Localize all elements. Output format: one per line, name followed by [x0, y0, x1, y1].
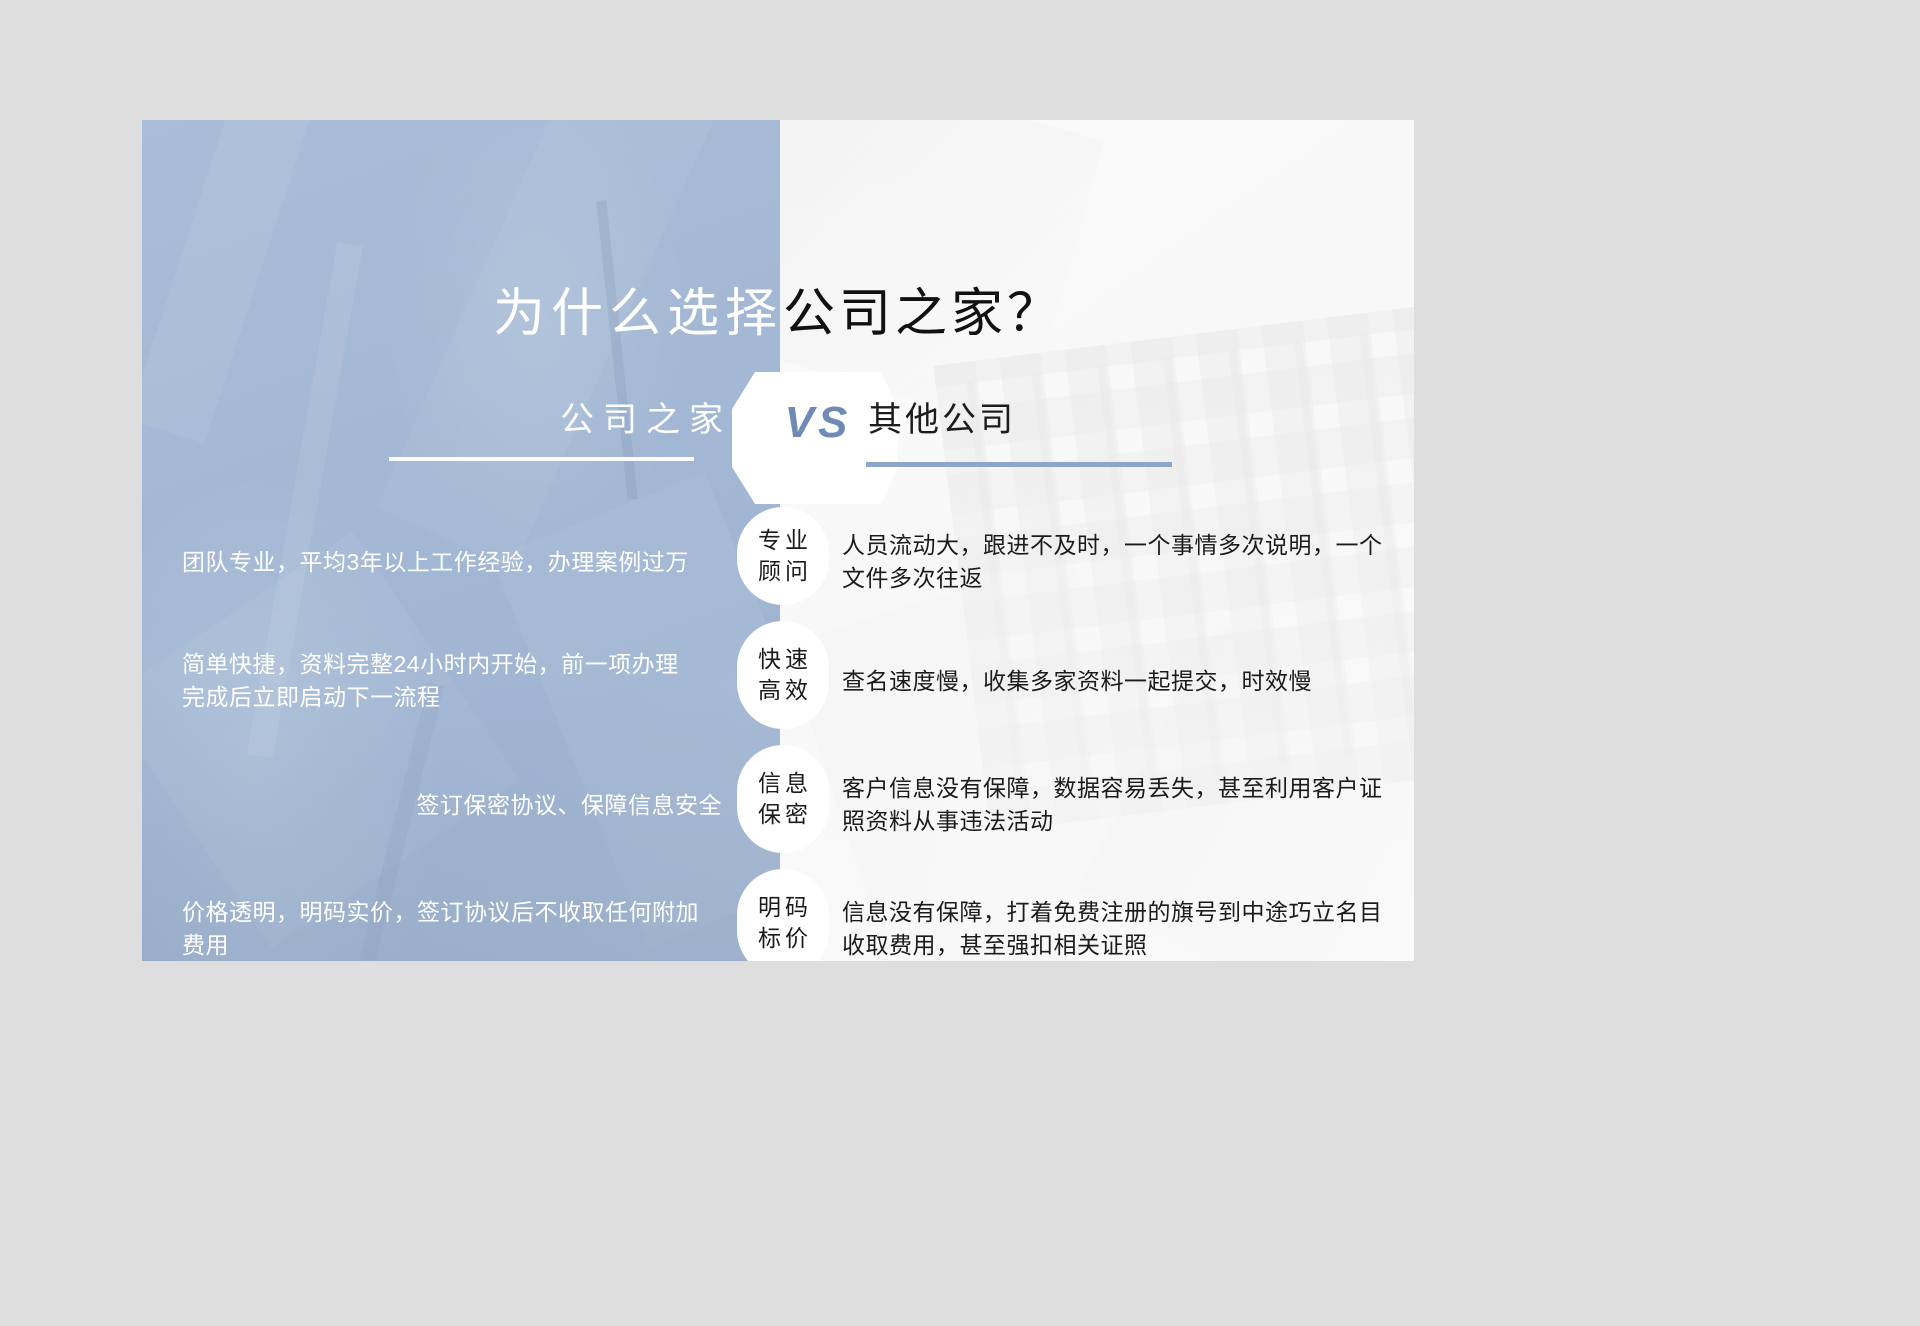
- page-title: 为什么选择公司之家？: [142, 288, 1414, 340]
- drawback-text: 信息没有保障，打着免费注册的旗号到中途巧立名目收取费用，甚至强扣相关证照: [842, 896, 1394, 961]
- comparison-row-category-pill: 专业 顾问: [737, 507, 829, 605]
- category-label: 快速 高效: [754, 644, 812, 706]
- comparison-row-category-pill: 信息 保密: [737, 745, 829, 853]
- comparison-rows: 团队专业，平均3年以上工作经验，办理案例过万专业 顾问人员流动大，跟进不及时，一…: [142, 513, 1414, 961]
- comparison-row-drawback: 信息没有保障，打着免费注册的旗号到中途巧立名目收取费用，甚至强扣相关证照: [842, 875, 1414, 961]
- versus-right-label: 其他公司: [868, 392, 1188, 441]
- category-label: 专业 顾问: [754, 525, 812, 587]
- page-title-brand: 公司之家？: [783, 285, 1063, 343]
- slide-canvas: 为什么选择公司之家？ 公司之家 VS 其他公司 团队专业，平均3年以上工作经验，…: [142, 120, 1414, 961]
- comparison-row: 简单快捷，资料完整24小时内开始，前一项办理完成后立即启动下一流程快速 高效查名…: [142, 627, 1414, 735]
- comparison-row: 签订保密协议、保障信息安全信息 保密客户信息没有保障，数据容易丢失，甚至利用客户…: [142, 751, 1414, 859]
- comparison-row-drawback: 查名速度慢，收集多家资料一起提交，时效慢: [842, 627, 1414, 735]
- comparison-row: 价格透明，明码实价，签订协议后不收取任何附加费用明码 标价信息没有保障，打着免费…: [142, 875, 1414, 961]
- advantage-text: 签订保密协议、保障信息安全: [417, 789, 723, 822]
- advantage-text: 价格透明，明码实价，签订协议后不收取任何附加费用: [142, 896, 700, 961]
- advantage-text: 简单快捷，资料完整24小时内开始，前一项办理完成后立即启动下一流程: [142, 648, 700, 713]
- category-label: 明码 标价: [754, 892, 812, 954]
- comparison-row-advantage: 价格透明，明码实价，签订协议后不收取任何附加费用: [142, 875, 740, 961]
- category-label: 信息 保密: [754, 768, 812, 830]
- versus-header: 公司之家 VS 其他公司: [142, 392, 1414, 502]
- versus-left-label: 公司之家: [452, 392, 732, 441]
- comparison-row: 团队专业，平均3年以上工作经验，办理案例过万专业 顾问人员流动大，跟进不及时，一…: [142, 513, 1414, 611]
- drawback-text: 客户信息没有保障，数据容易丢失，甚至利用客户证照资料从事违法活动: [842, 772, 1394, 837]
- versus-left-underline: [389, 457, 694, 461]
- comparison-row-category-pill: 快速 高效: [737, 621, 829, 729]
- comparison-row-advantage: 签订保密协议、保障信息安全: [142, 751, 740, 859]
- comparison-row-drawback: 客户信息没有保障，数据容易丢失，甚至利用客户证照资料从事违法活动: [842, 751, 1414, 859]
- comparison-row-category-pill: 明码 标价: [737, 869, 829, 961]
- drawback-text: 人员流动大，跟进不及时，一个事情多次说明，一个文件多次往返: [842, 529, 1394, 594]
- page-title-highlight: 为什么选择: [493, 285, 783, 343]
- drawback-text: 查名速度慢，收集多家资料一起提交，时效慢: [842, 665, 1312, 698]
- comparison-row-drawback: 人员流动大，跟进不及时，一个事情多次说明，一个文件多次往返: [842, 513, 1414, 611]
- advantage-text: 团队专业，平均3年以上工作经验，办理案例过万: [142, 546, 689, 579]
- comparison-row-advantage: 简单快捷，资料完整24小时内开始，前一项办理完成后立即启动下一流程: [142, 627, 740, 735]
- versus-right-underline: [866, 462, 1172, 467]
- comparison-row-advantage: 团队专业，平均3年以上工作经验，办理案例过万: [142, 513, 740, 611]
